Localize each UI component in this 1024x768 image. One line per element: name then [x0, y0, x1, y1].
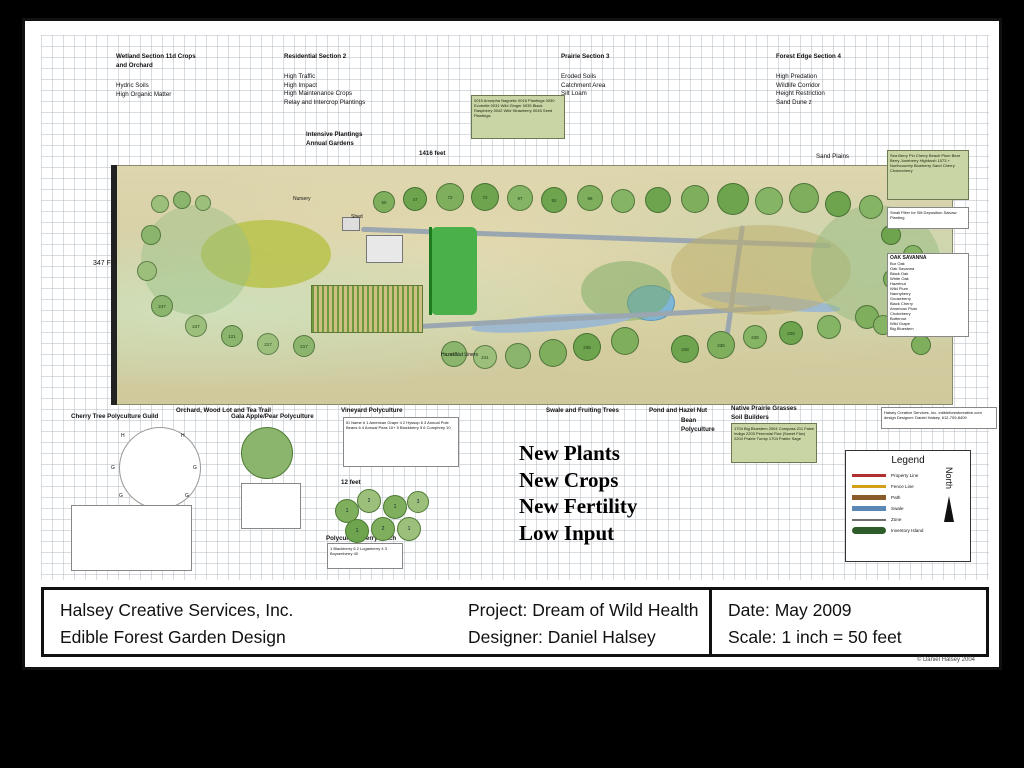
tree-canopy: [789, 183, 819, 213]
section-title-prairie: Prairie Section 3: [561, 53, 610, 62]
oak-savanna-species: Bur Oak Oak Savanna Black Oak White Oak …: [890, 261, 966, 331]
date-label: Date: May 2009: [728, 597, 986, 624]
tree-canopy: 121: [221, 325, 243, 347]
legend-label: Fence Line: [891, 484, 914, 489]
tree-number: 217: [300, 344, 308, 349]
legend-label: Swale: [891, 506, 904, 511]
info-box-top-species: 0015 Amorpha Nagnetic 0016 Plantings 003…: [471, 95, 565, 139]
tree-canopy: [817, 315, 841, 339]
tree-canopy: 60: [373, 191, 395, 213]
section-notes-prairie: Eroded Soils Catchment Area Silt Loam: [561, 73, 605, 99]
legend-label: Path: [891, 495, 900, 500]
section-title-residential: Residential Section 2: [284, 53, 346, 62]
caption-bean: Bean Polyculture: [681, 417, 715, 434]
hedge-line: [429, 227, 432, 315]
tree-number: 97: [517, 196, 522, 201]
tree-canopy: 86: [577, 185, 603, 211]
tree-canopy: 228: [779, 321, 803, 345]
tree-number: 72: [447, 195, 452, 200]
guild-letter: H: [181, 433, 185, 439]
overlay-line-4: Low Input: [519, 520, 637, 547]
tree-canopy: 92: [541, 187, 567, 213]
tree-canopy: 217: [293, 335, 315, 357]
berry-circle: 1: [383, 495, 407, 519]
tree-canopy: [141, 225, 161, 245]
tree-number: 228: [751, 335, 759, 340]
tree-canopy: 238: [573, 333, 601, 361]
scale-label: Scale: 1 inch = 50 feet: [728, 624, 986, 651]
tree-canopy: [505, 343, 531, 369]
legend-swatch-fence-line: [852, 485, 886, 488]
caption-pond-hazel: Pond and Hazel Nut: [649, 407, 707, 416]
guild-letter: G: [119, 493, 123, 499]
tree-canopy: [755, 187, 783, 215]
plan-sheet: Wetland Section 11d Crops and Orchard Hy…: [22, 18, 1002, 670]
company-name: Halsey Creative Services, Inc.: [60, 597, 460, 624]
tree-canopy: 47: [403, 187, 427, 211]
title-block: Halsey Creative Services, Inc. Edible Fo…: [41, 587, 989, 657]
tree-number: 228: [681, 347, 689, 352]
section-notes-forest-edge: High Predation Wildlife Corridor Height …: [776, 73, 825, 107]
tree-canopy: [173, 191, 191, 209]
drawing-area: Wetland Section 11d Crops and Orchard Hy…: [41, 35, 989, 580]
legend-swatch-swale: [852, 506, 886, 511]
tree-number: 228: [787, 331, 795, 336]
apple-pear-diagram: [241, 427, 293, 479]
tree-canopy: 247: [151, 295, 173, 317]
legend-item: Inventory Island: [852, 525, 970, 536]
tree-number: 47: [412, 197, 417, 202]
tree-number: 238: [583, 345, 591, 350]
tree-canopy: [717, 183, 749, 215]
tree-canopy: 236: [707, 331, 735, 359]
designer-name: Designer: Daniel Halsey: [468, 624, 709, 651]
label-sand-plains: Sand Plains: [816, 153, 849, 162]
berry-circle: 2: [371, 517, 395, 541]
tree-number: 247: [192, 324, 200, 329]
copyright-notice: © Daniel Halsey 2004: [917, 657, 975, 663]
legend-swatch-property-line: [852, 474, 886, 477]
tree-canopy: 72: [436, 183, 464, 211]
site-left-edge: [111, 165, 117, 405]
tree-number: 72: [482, 195, 487, 200]
tree-canopy: [911, 335, 931, 355]
section-notes-wetland: Hydric Soils High Organic Matter: [116, 82, 171, 99]
company-subtitle: Edible Forest Garden Design: [60, 624, 460, 651]
slide: Wetland Section 11d Crops and Orchard Hy…: [0, 0, 1024, 768]
info-box-prairie-species: 1704 Big Bluestem 2004 Compass 211 False…: [731, 423, 817, 463]
tree-canopy: [611, 327, 639, 355]
legend-swatch-zone: [852, 519, 886, 521]
tree-number: 121: [228, 334, 236, 339]
north-arrow-icon: [944, 496, 954, 522]
tree-canopy: [825, 191, 851, 217]
tree-number: 92: [551, 198, 556, 203]
tree-canopy: 228: [671, 335, 699, 363]
tree-canopy: [611, 189, 635, 213]
overlay-line-2: New Crops: [519, 467, 637, 494]
guild-letter: G: [193, 465, 197, 471]
legend-label: Inventory Island: [891, 528, 923, 533]
tree-canopy: [645, 187, 671, 213]
caption-cherry-guild: Cherry Tree Polyculture Guild: [71, 413, 158, 422]
berry-circle: 1: [397, 517, 421, 541]
tree-number: 247: [158, 304, 166, 309]
berry-circle: 3: [407, 491, 429, 513]
residential-lawn: [431, 227, 477, 315]
north-label: North: [944, 467, 954, 489]
tree-canopy: 228: [743, 325, 767, 349]
tree-canopy: [859, 195, 883, 219]
building-house: [366, 235, 403, 263]
tree-canopy: [151, 195, 169, 213]
tree-number: 241: [481, 355, 489, 360]
tree-canopy: [681, 185, 709, 213]
legend-title: Legend: [846, 455, 970, 466]
tree-canopy: [539, 339, 567, 367]
north-indicator: North: [936, 467, 962, 522]
overlay-text: New Plants New Crops New Fertility Low I…: [519, 440, 637, 546]
plant-key-box: [71, 505, 192, 571]
annual-garden-rows: [311, 285, 423, 333]
info-box-sand-plains: Sea Berry Pin Cherry Beach Plum Bear Ber…: [887, 150, 969, 200]
tree-canopy: [195, 195, 211, 211]
berry-circle: 1: [345, 519, 369, 543]
label-intensive-plantings: Intensive Plantings Annual Gardens: [306, 131, 362, 148]
berry-circle: 2: [357, 489, 381, 513]
tree-canopy: 72: [471, 183, 499, 211]
title-block-company: Halsey Creative Services, Inc. Edible Fo…: [44, 590, 460, 654]
tree-number: 236: [717, 343, 725, 348]
legend-swatch-inventory-island: [852, 527, 886, 534]
caption-native-prairie: Native Prairie Grasses Soil Builders: [731, 405, 797, 422]
caption-apple-pear: Gala Apple/Pear Polyculture: [231, 413, 314, 422]
title-block-meta: Date: May 2009 Scale: 1 inch = 50 feet: [712, 590, 986, 654]
tree-number: 86: [587, 196, 592, 201]
tree-canopy: [137, 261, 157, 281]
tree-number: 217: [264, 342, 272, 347]
overlay-line-1: New Plants: [519, 440, 637, 467]
legend-swatch-path: [852, 495, 886, 500]
legend: Legend Property Line Fence Line Path: [845, 450, 971, 562]
apple-pear-notes: [241, 483, 301, 529]
label-nursery: Nursery: [293, 195, 311, 204]
section-title-wetland: Wetland Section 11d Crops and Orchard: [116, 53, 196, 70]
info-box-oak-savanna: OAK SAVANNA Bur Oak Oak Savanna Black Oa…: [887, 253, 969, 337]
project-name: Project: Dream of Wild Health: [468, 597, 709, 624]
info-box-silt-deposition: Small Filter for Silt Deposition Salvaw …: [887, 207, 969, 229]
tree-canopy: 97: [507, 185, 533, 211]
section-title-forest-edge: Forest Edge Section 4: [776, 53, 841, 62]
caption-swale: Swale and Fruiting Trees: [546, 407, 619, 416]
label-shed: Shed: [351, 213, 363, 222]
guild-letter: G: [185, 493, 189, 499]
label-width-dimension: 1416 feet: [419, 150, 446, 159]
company-note-box: Halsey Creative Services, Inc. ediblefor…: [881, 407, 997, 429]
site-map: 60 47 72 72 97 92 86: [111, 165, 953, 405]
section-notes-residential: High Traffic High Impact High Maintenanc…: [284, 73, 365, 107]
tree-number: 60: [381, 200, 386, 205]
vineyard-table: ID Name # 1 American Grape 4 2 Hyssop 6 …: [343, 417, 459, 467]
berry-table: 1 Blackberry 6 2 Loganberry 4 3 Boysenbe…: [327, 543, 403, 569]
title-block-project: Project: Dream of Wild Health Designer: …: [460, 590, 712, 654]
guild-letter: H: [121, 433, 125, 439]
overlay-line-3: New Fertility: [519, 493, 637, 520]
tree-canopy: 217: [257, 333, 279, 355]
legend-label: Zone: [891, 517, 901, 522]
tree-canopy: 247: [185, 315, 207, 337]
label-hazel-liners: Hazel Nut Liners: [441, 351, 478, 360]
caption-vineyard: Vineyard Polyculture: [341, 407, 402, 416]
guild-letter: G: [111, 465, 115, 471]
legend-label: Property Line: [891, 473, 918, 478]
berry-patch-diagram: 1 2 1 3 1 2 1: [331, 485, 441, 545]
